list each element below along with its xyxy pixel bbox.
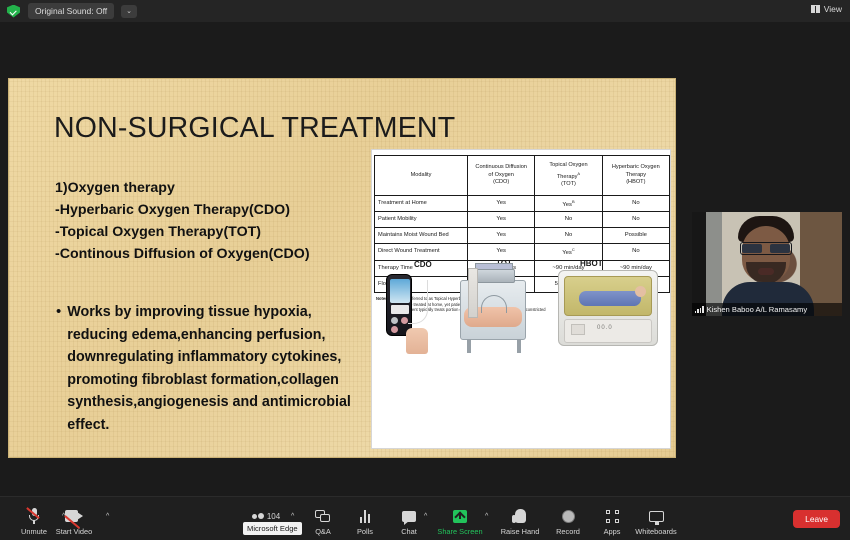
leave-button[interactable]: Leave bbox=[793, 510, 840, 528]
cell-tot: YesB bbox=[535, 196, 602, 212]
cell-tot: No bbox=[535, 212, 602, 228]
chamber-leg bbox=[517, 339, 521, 353]
slide-line: -Continous Diffusion of Oxygen(CDO) bbox=[55, 243, 385, 265]
security-shield-icon[interactable] bbox=[7, 5, 20, 18]
cell-tot: No bbox=[535, 228, 602, 244]
hbot-side-unit bbox=[468, 268, 478, 318]
microphone-muted-icon bbox=[29, 507, 39, 525]
original-sound-label: Original Sound: Off bbox=[35, 6, 107, 16]
cell-hbot: Possible bbox=[602, 228, 669, 244]
slide-line: -Topical Oxygen Therapy(TOT) bbox=[55, 221, 385, 243]
cell-text: Yes bbox=[562, 250, 572, 256]
signal-strength-icon bbox=[695, 307, 704, 313]
record-circle-icon bbox=[562, 507, 575, 525]
table-head: Modality Continuous Diffusion of Oxygen … bbox=[375, 156, 670, 196]
image-label-cdo: CDO bbox=[414, 260, 432, 269]
raised-hand-icon bbox=[515, 507, 526, 525]
cell-tot: YesC bbox=[535, 244, 602, 260]
hbot-dial-readout: 00.0 bbox=[597, 325, 627, 334]
header-line: Therapy bbox=[557, 174, 578, 180]
toolbar-label: Polls bbox=[357, 527, 373, 536]
start-video-chevron-up-icon[interactable]: ^ bbox=[106, 513, 109, 520]
toolbar-label: Record bbox=[556, 527, 580, 536]
cell-cdo: Yes bbox=[468, 196, 535, 212]
toolbar-label: Chat bbox=[401, 527, 417, 536]
whiteboard-icon bbox=[649, 507, 664, 525]
participants-chevron-up-icon[interactable]: ^ bbox=[291, 513, 294, 520]
header-line: Hyperbaric Oxygen bbox=[612, 164, 660, 170]
footnote-ref: C bbox=[572, 247, 575, 252]
hbot-chamber-image: 00.0 bbox=[558, 270, 658, 346]
header-line: (CDO) bbox=[493, 179, 509, 185]
table-row: Patient Mobility Yes No No bbox=[375, 212, 670, 228]
table-row: Maintains Moist Wound Bed Yes No Possibl… bbox=[375, 228, 670, 244]
chamber-lid bbox=[475, 263, 513, 270]
original-sound-chevron-down-icon[interactable]: ⌄ bbox=[121, 5, 137, 18]
row-label: Direct Wound Treatment bbox=[375, 244, 468, 260]
row-label: Treatment at Home bbox=[375, 196, 468, 212]
column-header-cdo: Continuous Diffusion of Oxygen (CDO) bbox=[468, 156, 535, 196]
shared-slide: NON-SURGICAL TREATMENT 1)Oxygen therapy … bbox=[8, 78, 676, 458]
participant-video-tile[interactable]: Kishen Baboo A/L Ramasamy bbox=[692, 212, 842, 316]
slide-line: 1)Oxygen therapy bbox=[55, 177, 385, 199]
bar-chart-icon bbox=[360, 507, 371, 525]
slide-line: -Hyperbaric Oxygen Therapy(CDO) bbox=[55, 199, 385, 221]
toolbar-start-video-button[interactable]: Start Video bbox=[46, 507, 102, 536]
device-screen bbox=[390, 279, 410, 303]
header-line: Topical Oxygen bbox=[549, 162, 587, 168]
cell-cdo: Yes bbox=[468, 212, 535, 228]
slide-paragraph-text: Works by improving tissue hypoxia, reduc… bbox=[67, 301, 376, 437]
toolbar-label: Whiteboards bbox=[635, 527, 677, 536]
chamber-hose bbox=[481, 295, 507, 313]
chat-chevron-up-icon[interactable]: ^ bbox=[424, 513, 427, 520]
therapy-images: CDO TOT HBOT bbox=[372, 262, 672, 358]
column-header-tot: Topical Oxygen TherapyA (TOT) bbox=[535, 156, 602, 196]
toolbar-label: Share Screen bbox=[437, 527, 482, 536]
participant-glasses bbox=[740, 242, 792, 255]
share-screen-icon bbox=[453, 507, 467, 525]
camera-off-icon bbox=[65, 507, 83, 525]
hbot-patient bbox=[579, 291, 641, 306]
hbot-control-knob bbox=[571, 324, 585, 335]
toolbar-whiteboards-button[interactable]: Whiteboards bbox=[624, 507, 688, 536]
toolbar-label: Unmute bbox=[21, 527, 47, 536]
cell-hbot: No bbox=[602, 196, 669, 212]
cell-text: Yes bbox=[562, 202, 572, 208]
share-screen-chevron-up-icon[interactable]: ^ bbox=[485, 513, 488, 520]
header-line: (TOT) bbox=[561, 181, 576, 187]
top-bar: Original Sound: Off ⌄ View bbox=[0, 0, 850, 22]
table-row: Direct Wound Treatment Yes YesC No bbox=[375, 244, 670, 260]
cdo-hand-image bbox=[406, 328, 428, 354]
row-label: Patient Mobility bbox=[375, 212, 468, 228]
slide-paragraph: • Works by improving tissue hypoxia, red… bbox=[56, 301, 376, 437]
toolbar-chat-button[interactable]: Chat bbox=[381, 507, 437, 536]
image-label-hbot: HBOT bbox=[580, 259, 603, 268]
cell-cdo: Yes bbox=[468, 244, 535, 260]
meeting-toolbar: Unmute ^ Start Video ^ 104 Participants … bbox=[0, 496, 850, 540]
participants-count: 104 bbox=[267, 512, 280, 521]
cell-hbot: No bbox=[602, 212, 669, 228]
row-label: Maintains Moist Wound Bed bbox=[375, 228, 468, 244]
cell-cdo: Yes bbox=[468, 228, 535, 244]
apps-grid-icon bbox=[606, 507, 619, 525]
question-answer-icon bbox=[315, 507, 331, 525]
participant-name-bar: Kishen Baboo A/L Ramasamy bbox=[692, 303, 842, 316]
column-header-modality: Modality bbox=[375, 156, 468, 196]
view-label: View bbox=[824, 4, 842, 14]
device-panel bbox=[391, 305, 409, 314]
device-button bbox=[391, 326, 398, 333]
footnote-ref: A bbox=[577, 171, 580, 176]
toolbar-label: Raise Hand bbox=[501, 527, 540, 536]
slide-title: NON-SURGICAL TREATMENT bbox=[54, 112, 455, 145]
bullet-marker: • bbox=[56, 301, 61, 437]
table-header-row: Modality Continuous Diffusion of Oxygen … bbox=[375, 156, 670, 196]
chamber-top bbox=[473, 269, 515, 283]
participant-name-label: Kishen Baboo A/L Ramasamy bbox=[707, 305, 808, 314]
layout-view-icon bbox=[811, 5, 820, 13]
hbot-patient-head bbox=[635, 286, 646, 297]
participant-mouth bbox=[758, 268, 774, 275]
toolbar-share-screen-button[interactable]: Share Screen bbox=[432, 507, 488, 536]
view-button[interactable]: View bbox=[811, 4, 842, 14]
cell-hbot: No bbox=[602, 244, 669, 260]
hbot-glass-chamber bbox=[564, 276, 652, 316]
cdo-tubing bbox=[408, 280, 428, 324]
toolbar-label: Start Video bbox=[56, 527, 92, 536]
taskbar-tooltip: Microsoft Edge bbox=[243, 522, 302, 535]
footnote-ref: B bbox=[572, 199, 575, 204]
device-button bbox=[401, 317, 408, 324]
zoom-meeting-window: Original Sound: Off ⌄ View NON-SURGICAL … bbox=[0, 0, 850, 540]
header-line: Continuous Diffusion bbox=[475, 164, 527, 170]
header-line: (HBOT) bbox=[626, 179, 645, 185]
comparison-panel: Modality Continuous Diffusion of Oxygen … bbox=[371, 149, 671, 449]
chamber-leg bbox=[467, 339, 471, 353]
column-header-hbot: Hyperbaric Oxygen Therapy (HBOT) bbox=[602, 156, 669, 196]
header-line: of Oxygen bbox=[488, 172, 514, 178]
original-sound-button[interactable]: Original Sound: Off bbox=[28, 3, 114, 19]
table-row: Treatment at Home Yes YesB No bbox=[375, 196, 670, 212]
slide-bullet-lines: 1)Oxygen therapy -Hyperbaric Oxygen Ther… bbox=[55, 177, 385, 265]
participant-video-feed bbox=[692, 212, 842, 316]
header-line: Therapy bbox=[626, 172, 647, 178]
toolbar-label: Apps bbox=[604, 527, 621, 536]
chat-bubble-icon bbox=[402, 507, 416, 525]
toolbar-label: Q&A bbox=[315, 527, 331, 536]
device-button bbox=[391, 317, 398, 324]
